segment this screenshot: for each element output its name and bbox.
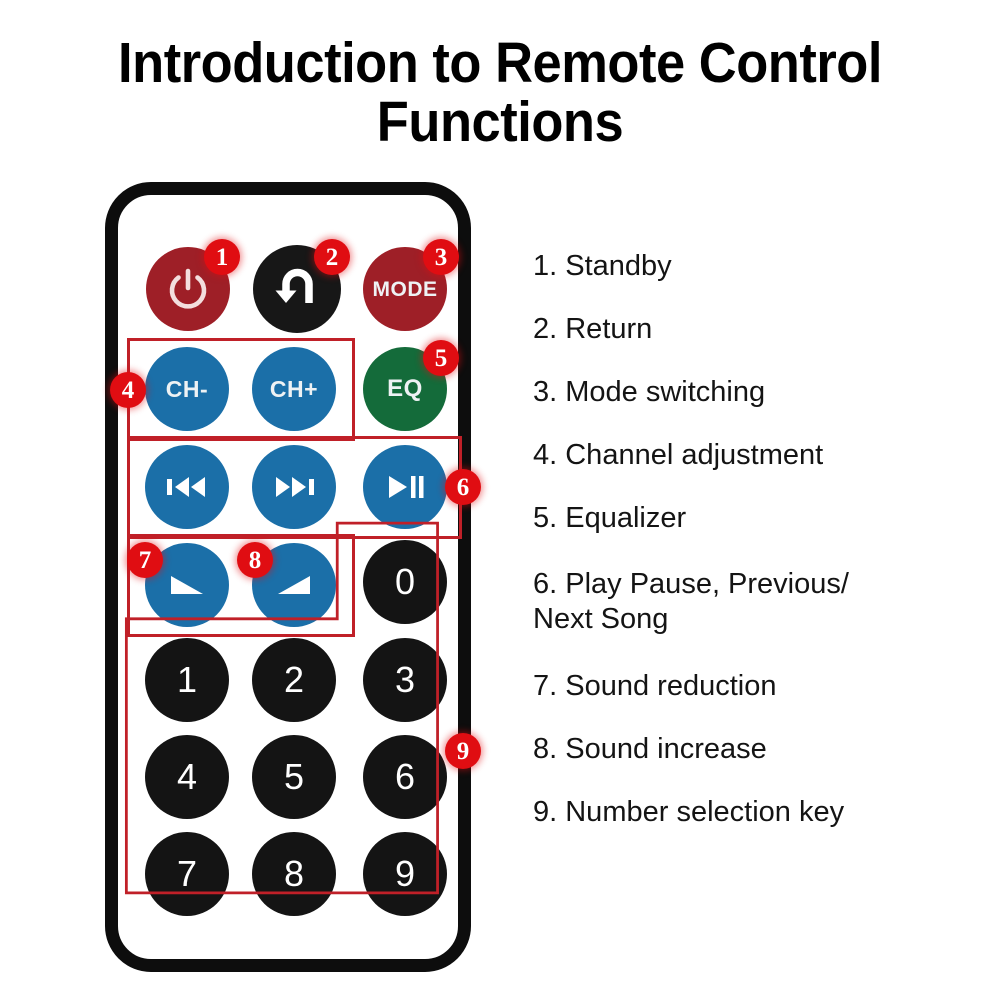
volume-down-icon (165, 570, 209, 600)
keypad-key-0-label: 0 (395, 564, 415, 600)
keypad-key-9[interactable]: 9 (363, 832, 447, 916)
legend-item-5: 5. Equalizer (533, 504, 985, 533)
play-pause-icon (385, 472, 425, 502)
next-track-button[interactable] (252, 445, 336, 529)
legend-item-6: 6. Play Pause, Previous/ Next Song (533, 567, 985, 638)
volume-up-icon (272, 570, 316, 600)
keypad-key-5-label: 5 (284, 759, 304, 795)
legend-item-1: 1. Standby (533, 252, 985, 281)
previous-track-button[interactable] (145, 445, 229, 529)
next-track-icon (272, 472, 316, 502)
channel-up-button[interactable]: CH+ (252, 347, 336, 431)
keypad-key-3[interactable]: 3 (363, 638, 447, 722)
keypad-key-4-label: 4 (177, 759, 197, 795)
badge-7: 7 (127, 542, 163, 578)
badge-4: 4 (110, 372, 146, 408)
play-pause-button[interactable] (363, 445, 447, 529)
badge-9: 9 (445, 733, 481, 769)
keypad-key-8-label: 8 (284, 856, 304, 892)
remote-control-body: MODE CH- CH+ EQ (105, 182, 471, 972)
legend-item-4: 4. Channel adjustment (533, 441, 985, 470)
keypad-key-2[interactable]: 2 (252, 638, 336, 722)
previous-track-icon (165, 472, 209, 502)
badge-8: 8 (237, 542, 273, 578)
keypad-key-6-label: 6 (395, 759, 415, 795)
equalizer-label: EQ (387, 377, 423, 401)
badge-6: 6 (445, 469, 481, 505)
keypad-key-0[interactable]: 0 (363, 540, 447, 624)
power-icon (165, 266, 211, 312)
keypad-key-6[interactable]: 6 (363, 735, 447, 819)
keypad-key-7-label: 7 (177, 856, 197, 892)
channel-down-label: CH- (166, 378, 208, 401)
badge-2: 2 (314, 239, 350, 275)
function-legend-list: 1. Standby 2. Return 3. Mode switching 4… (533, 252, 985, 861)
keypad-key-9-label: 9 (395, 856, 415, 892)
remote-face: MODE CH- CH+ EQ (118, 195, 458, 959)
keypad-key-3-label: 3 (395, 662, 415, 698)
legend-item-2: 2. Return (533, 315, 985, 344)
keypad-key-2-label: 2 (284, 662, 304, 698)
keypad-key-7[interactable]: 7 (145, 832, 229, 916)
legend-item-8: 8. Sound increase (533, 735, 985, 764)
legend-item-7: 7. Sound reduction (533, 672, 985, 701)
page-title: Introduction to Remote Control Functions (40, 34, 960, 153)
badge-5: 5 (423, 340, 459, 376)
mode-button-label: MODE (373, 279, 438, 300)
keypad-key-5[interactable]: 5 (252, 735, 336, 819)
badge-3: 3 (423, 239, 459, 275)
badge-1: 1 (204, 239, 240, 275)
keypad-key-8[interactable]: 8 (252, 832, 336, 916)
legend-item-9: 9. Number selection key (533, 798, 985, 827)
channel-down-button[interactable]: CH- (145, 347, 229, 431)
legend-item-3: 3. Mode switching (533, 378, 985, 407)
keypad-key-4[interactable]: 4 (145, 735, 229, 819)
keypad-key-1[interactable]: 1 (145, 638, 229, 722)
channel-up-label: CH+ (270, 378, 318, 401)
return-arrow-icon (271, 263, 323, 315)
keypad-key-1-label: 1 (177, 662, 197, 698)
